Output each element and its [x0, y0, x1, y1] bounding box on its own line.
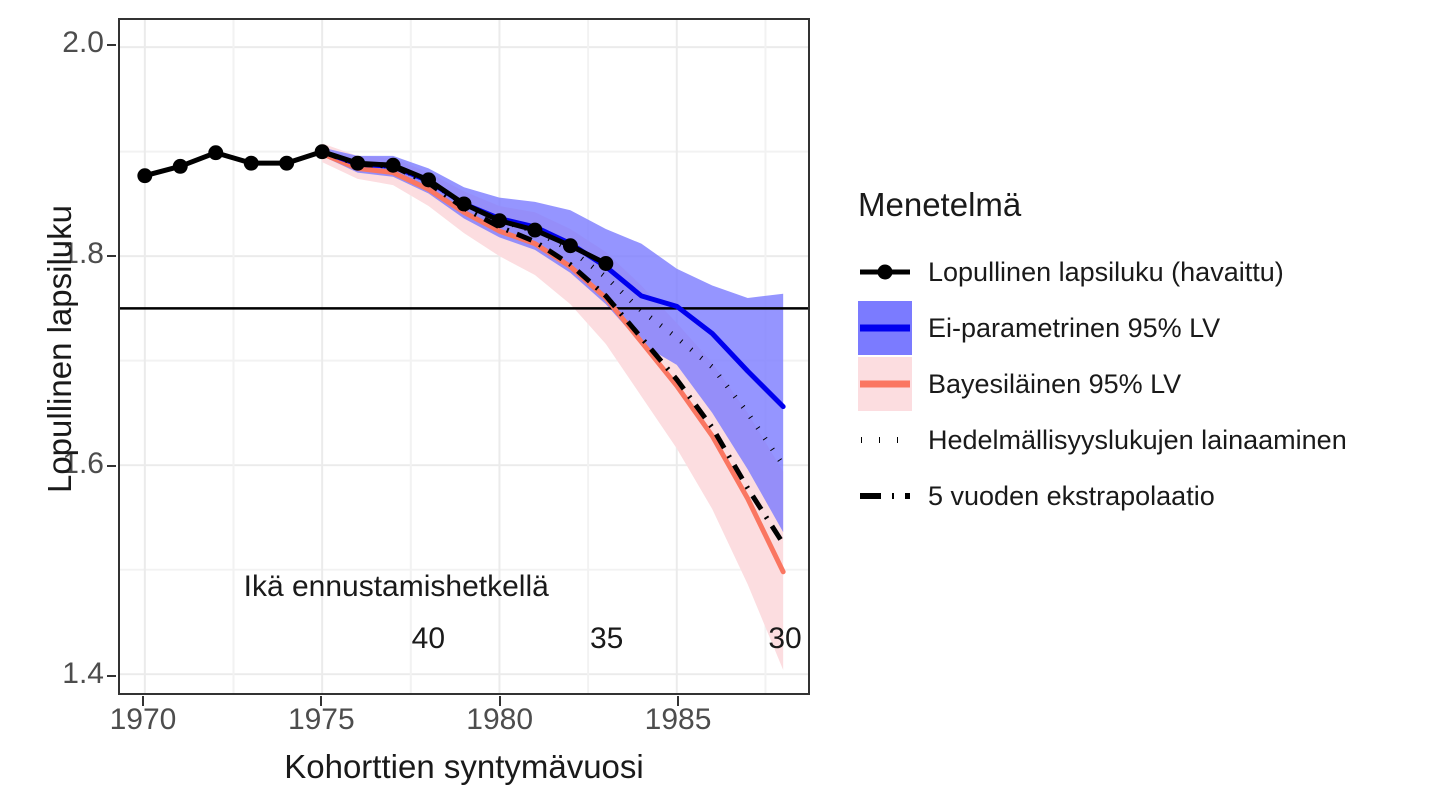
legend-key-line-point — [858, 245, 912, 299]
observed-point — [208, 145, 223, 160]
observed-point — [598, 256, 613, 271]
y-tick-mark — [107, 465, 116, 467]
legend-item-label: Hedelmällisyyslukujen lainaaminen — [928, 425, 1347, 456]
legend: Menetelmä Lopullinen lapsiluku (havaittu… — [858, 186, 1428, 524]
legend-key-glyph — [858, 245, 912, 299]
x-tick-mark — [499, 696, 501, 706]
legend-key-glyph — [858, 413, 912, 467]
legend-title: Menetelmä — [858, 186, 1428, 224]
observed-point — [527, 223, 542, 238]
legend-item[interactable]: Bayesiläinen 95% LV — [858, 356, 1428, 412]
legend-key-glyph — [858, 357, 912, 411]
y-tick-label: 2.0 — [0, 26, 104, 60]
chart-root: 1.41.61.82.0 1970197519801985 Lopullinen… — [0, 0, 1440, 810]
x-axis-title: Kohorttien syntymävuosi — [118, 748, 810, 786]
legend-item[interactable]: Lopullinen lapsiluku (havaittu) — [858, 244, 1428, 300]
legend-point — [878, 265, 893, 280]
x-tick-mark — [677, 696, 679, 706]
x-tick-label: 1975 — [288, 703, 355, 737]
y-tick-mark — [107, 675, 116, 677]
age-tick-label: 35 — [590, 622, 623, 656]
observed-point — [563, 238, 578, 253]
legend-items: Lopullinen lapsiluku (havaittu)Ei-parame… — [858, 244, 1428, 524]
legend-item-label: Bayesiläinen 95% LV — [928, 369, 1181, 400]
x-tick-label: 1980 — [466, 703, 533, 737]
legend-key-dotted — [858, 413, 912, 467]
y-tick-mark — [107, 255, 116, 257]
age-axis-annotation: Ikä ennustamishetkellä — [244, 570, 549, 604]
x-tick-mark — [320, 696, 322, 706]
legend-item[interactable]: Ei-parametrinen 95% LV — [858, 300, 1428, 356]
observed-point — [457, 196, 472, 211]
observed-point — [173, 159, 188, 174]
legend-key-glyph — [858, 469, 912, 523]
observed-point — [386, 158, 401, 173]
legend-key-dashed — [858, 469, 912, 523]
legend-item[interactable]: 5 vuoden ekstrapolaatio — [858, 468, 1428, 524]
y-axis-title: Lopullinen lapsiluku — [41, 109, 79, 589]
age-tick-label: 30 — [768, 622, 801, 656]
x-tick-mark — [142, 696, 144, 706]
x-tick-label: 1985 — [645, 703, 712, 737]
observed-point — [421, 172, 436, 187]
age-tick-label: 40 — [412, 622, 445, 656]
legend-item-label: Ei-parametrinen 95% LV — [928, 313, 1220, 344]
observed-point — [315, 144, 330, 159]
observed-point — [350, 156, 365, 171]
legend-item[interactable]: Hedelmällisyyslukujen lainaaminen — [858, 412, 1428, 468]
y-tick-label: 1.4 — [0, 657, 104, 691]
legend-item-label: Lopullinen lapsiluku (havaittu) — [928, 257, 1284, 288]
observed-point — [137, 168, 152, 183]
y-tick-mark — [107, 44, 116, 46]
legend-key-ribbon-line — [858, 357, 912, 411]
observed-point — [244, 156, 259, 171]
legend-item-label: 5 vuoden ekstrapolaatio — [928, 481, 1215, 512]
legend-key-ribbon-line — [858, 301, 912, 355]
observed-point — [279, 156, 294, 171]
legend-key-glyph — [858, 301, 912, 355]
observed-point — [492, 213, 507, 228]
x-tick-label: 1970 — [110, 703, 177, 737]
